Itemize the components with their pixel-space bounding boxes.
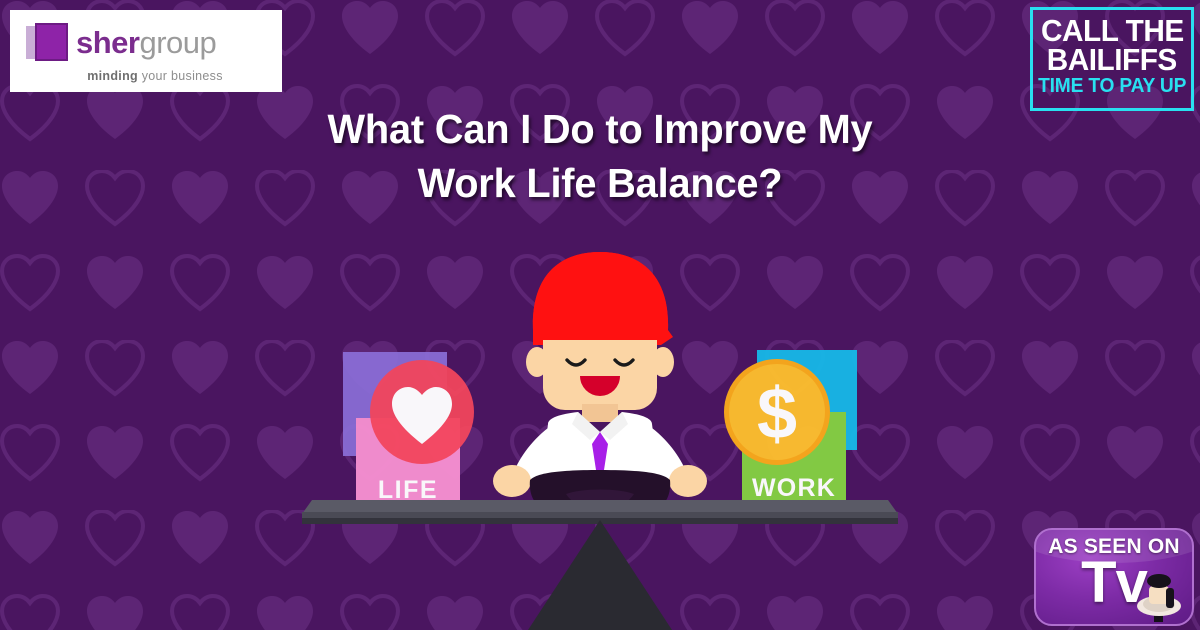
logo-word-sher: sher (76, 25, 139, 60)
logo-tagline-bold: minding (87, 69, 138, 83)
logo-wordmark: shergroup (76, 27, 216, 58)
logo-tagline-rest: your business (138, 69, 223, 83)
as-seen-on-tv-badge[interactable]: AS SEEN ON Tv (1034, 528, 1194, 626)
bailiffs-line-2: BAILIFFS (1047, 46, 1177, 75)
logo-word-group: group (139, 25, 216, 60)
tv-badge-person-icon (1136, 568, 1182, 622)
page-title: What Can I Do to Improve My Work Life Ba… (18, 102, 1182, 210)
bailiffs-line-3: TIME TO PAY UP (1038, 74, 1186, 99)
headline-line-2: Work Life Balance? (212, 156, 988, 210)
logo-tagline: minding your business (69, 70, 223, 83)
call-the-bailiffs-badge[interactable]: CALL THE BAILIFFS TIME TO PAY UP (1030, 7, 1194, 111)
heart-pattern-background (0, 0, 1200, 630)
logo-square-icon (26, 21, 70, 63)
shergroup-logo[interactable]: shergroup minding your business (10, 10, 282, 92)
banner-canvas: shergroup minding your business What Can… (0, 0, 1200, 630)
headline-line-1: What Can I Do to Improve My (212, 102, 988, 156)
